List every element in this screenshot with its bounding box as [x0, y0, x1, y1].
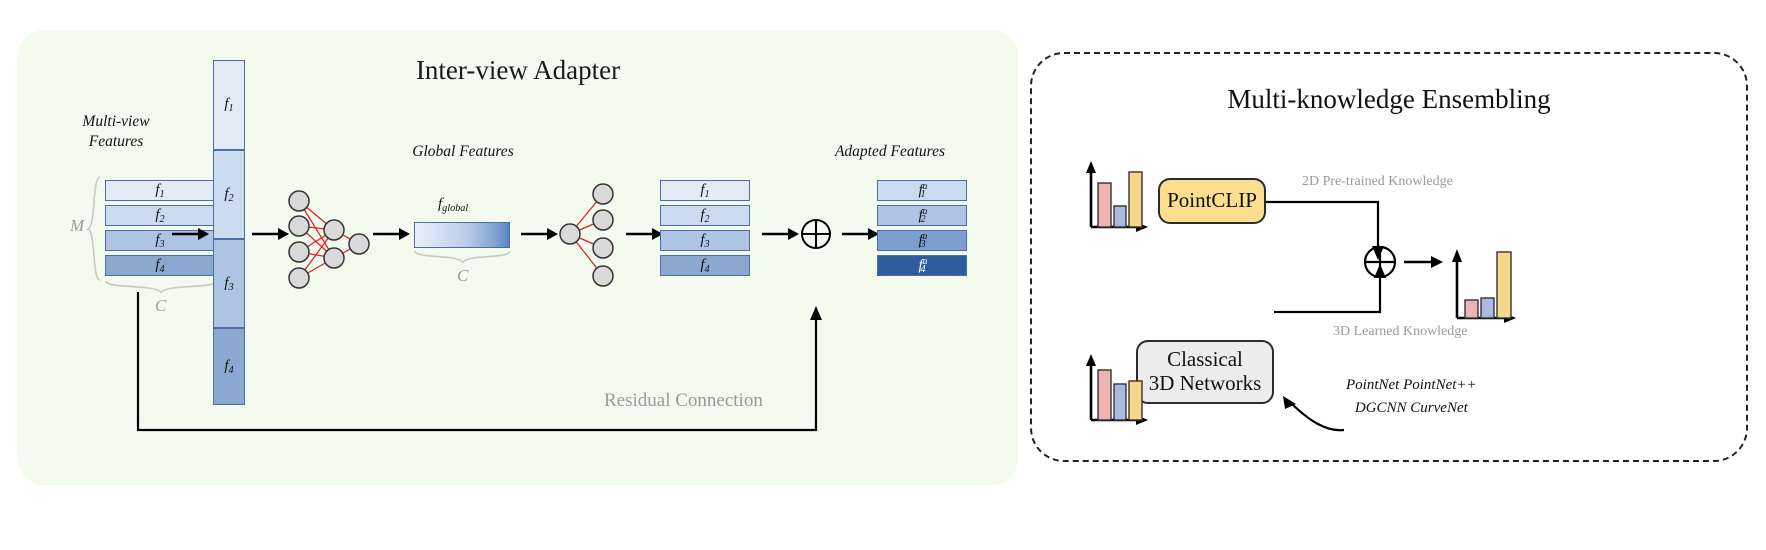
feature-bar-f1: f1 — [105, 180, 215, 201]
arrow-right-icon — [521, 226, 559, 242]
page-title-right: Multi-knowledge Ensembling — [1030, 84, 1748, 115]
dimension-c-global-label: C — [457, 266, 468, 286]
flat-cell-f2: f2 — [213, 150, 245, 239]
curved-arrow-icon — [1274, 394, 1348, 438]
arrow-right-icon — [762, 226, 800, 242]
reshaped-bar-f1: f1 — [660, 180, 750, 201]
reshaped-bar-f3: f3 — [660, 230, 750, 251]
feature-bar-f2: f2 — [105, 205, 215, 226]
connector-classical-to-sum — [1274, 262, 1394, 326]
network-names-list: PointNet PointNet++ DGCNN CurveNet — [1346, 374, 1477, 419]
adapted-bar-f3a: fa3 — [877, 230, 967, 251]
brace-m-icon — [86, 176, 102, 282]
mlp-encoder-diagram — [286, 188, 370, 292]
dimension-m-label: M — [70, 216, 84, 236]
classical-3d-networks-box[interactable]: Classical 3D Networks — [1136, 340, 1274, 404]
multi-view-features-label: Multi-view Features — [46, 112, 186, 152]
arrow-right-icon — [1404, 254, 1444, 270]
adapted-bar-f4a: fa4 — [877, 255, 967, 276]
brace-c-global-icon — [414, 250, 512, 266]
bar-chart-icon-pointclip-input — [1082, 155, 1152, 235]
pointclip-label: PointCLIP — [1167, 189, 1257, 213]
residual-connection-path — [130, 290, 840, 450]
adapted-bar-f2a: fa2 — [877, 205, 967, 226]
global-feature-vector — [414, 222, 510, 248]
f-global-label: fglobal — [438, 196, 468, 214]
residual-connection-label: Residual Connection — [604, 390, 763, 412]
feature-bar-f3-label: f3 — [155, 232, 164, 250]
sum-operator-icon — [800, 218, 832, 250]
network-names-line2: DGCNN CurveNet — [1346, 397, 1477, 420]
classical-3d-label-line2: 3D Networks — [1149, 372, 1262, 396]
adapted-features-label: Adapted Features — [805, 142, 975, 162]
mlp-decoder-diagram — [558, 182, 616, 294]
feature-bar-f2-label: f2 — [155, 207, 164, 225]
knowledge-3d-label: 3D Learned Knowledge — [1333, 324, 1468, 340]
classical-3d-label-line1: Classical — [1167, 348, 1243, 372]
pointclip-box[interactable]: PointCLIP — [1158, 178, 1266, 224]
adapted-features-stack: fa1 fa2 fa3 fa4 — [877, 180, 967, 276]
network-names-line1: PointNet PointNet++ — [1346, 374, 1477, 397]
arrow-right-icon — [172, 226, 210, 242]
bar-chart-icon-ensembled-output — [1448, 240, 1528, 326]
arrow-right-icon — [373, 226, 411, 242]
page-title: Inter-view Adapter — [18, 55, 1018, 86]
feature-bar-f1-label: f1 — [155, 182, 164, 200]
reshaped-features-stack: f1 f2 f3 f4 — [660, 180, 750, 276]
reshaped-bar-f4: f4 — [660, 255, 750, 276]
adapted-bar-f1a: fa1 — [877, 180, 967, 201]
flat-cell-f1: f1 — [213, 60, 245, 150]
arrow-right-icon — [252, 226, 290, 242]
knowledge-2d-label: 2D Pre-trained Knowledge — [1302, 174, 1453, 190]
arrow-right-icon — [626, 226, 664, 242]
reshaped-bar-f2: f2 — [660, 205, 750, 226]
bar-chart-icon-classical-input — [1082, 348, 1152, 428]
feature-bar-f4: f4 — [105, 255, 215, 276]
global-features-label: Global Features — [388, 142, 538, 162]
arrow-right-icon — [842, 226, 880, 242]
feature-bar-f4-label: f4 — [155, 257, 164, 275]
